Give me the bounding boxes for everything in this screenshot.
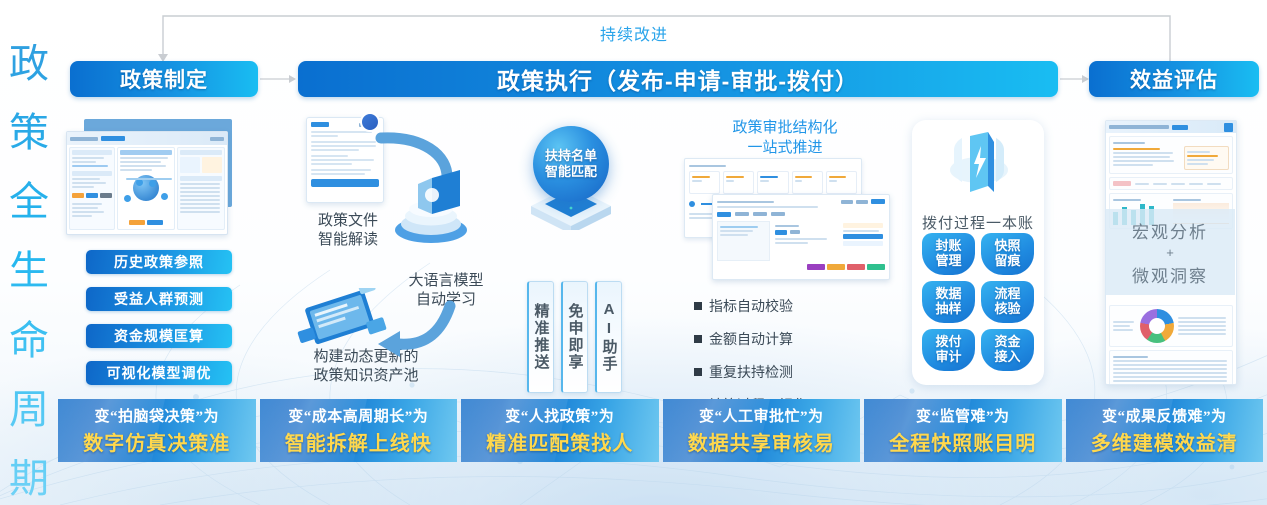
screenshot-center-panel xyxy=(117,147,175,230)
vtitle-char: 期 xyxy=(9,459,49,499)
outcome-banner-policy-matching: 变“人找政策”为 精准匹配策找人 xyxy=(461,399,659,462)
banner-to-label: 精准匹配策找人 xyxy=(486,427,633,456)
knowledge-pool-illustration xyxy=(294,288,388,354)
vtitle-char: 命 xyxy=(9,321,49,361)
disbursement-shield-group: 封账 管理 快照 留痕 数据 抽样 流程 核验 拨付 审计 资金 接入 xyxy=(922,233,1034,371)
banner-to-label: 数字仿真决策准 xyxy=(83,427,230,456)
capability-button-model-tuning[interactable]: 可视化模型调优 xyxy=(86,361,232,385)
overlay-plus-sign: + xyxy=(1166,245,1174,260)
outcome-banner-cost-cycle: 变“成本高周期长”为 智能拆解上线快 xyxy=(260,399,458,462)
outcome-banner-manual-approval: 变“人工审批忙”为 数据共享审核易 xyxy=(663,399,861,462)
disbursement-ledger-title: 拨付过程一本账 xyxy=(912,212,1044,233)
banner-from-label: 变“拍脑袋决策”为 xyxy=(94,405,219,426)
bullet-label: 重复扶持检测 xyxy=(709,362,793,382)
banner-to-label: 数据共享审核易 xyxy=(688,427,835,456)
approval-structuring-title: 政策审批结构化 一站式推进 xyxy=(690,118,880,159)
support-list-sphere-badge: 扶持名单 智能匹配 xyxy=(533,126,609,202)
loop-label: 持续改进 xyxy=(600,21,668,45)
screenshot-left-panel xyxy=(69,147,115,230)
overlay-micro-insight: 微观洞察 xyxy=(1132,262,1208,287)
vtitle-char: 周 xyxy=(9,390,49,430)
vtitle-char: 策 xyxy=(9,113,49,153)
bullet-square-icon xyxy=(694,368,702,376)
banner-to-label: 智能拆解上线快 xyxy=(285,427,432,456)
list-item: 金额自动计算 xyxy=(694,329,894,349)
shield-badge-data-sampling[interactable]: 数据 抽样 xyxy=(922,281,975,323)
banner-from-label: 变“人工审批忙”为 xyxy=(699,405,824,426)
bullet-label: 金额自动计算 xyxy=(709,329,793,349)
outcome-banner-result-feedback: 变“成果反馈难”为 多维建模效益清 xyxy=(1066,399,1264,462)
shield-badge-process-verification[interactable]: 流程 核验 xyxy=(981,281,1034,323)
lightning-crystal-icon xyxy=(948,130,1010,208)
banner-from-label: 变“监管难”为 xyxy=(916,405,1010,426)
banner-to-label: 全程快照账目明 xyxy=(889,427,1036,456)
vtitle-char: 全 xyxy=(9,182,49,222)
bullet-square-icon xyxy=(694,302,702,310)
support-list-matching-illustration: 扶持名单 智能匹配 xyxy=(515,126,627,226)
shield-badge-disbursement-audit[interactable]: 拨付 审计 xyxy=(922,329,975,371)
benefit-evaluation-overlay: 宏观分析 + 微观洞察 xyxy=(1105,209,1235,295)
screenshot-titlebar xyxy=(1106,121,1236,133)
donut-chart xyxy=(1140,309,1174,343)
capability-button-beneficiary-forecast[interactable]: 受益人群预测 xyxy=(86,287,232,311)
list-item: 指标自动校验 xyxy=(694,296,894,316)
vtitle-char: 政 xyxy=(9,44,49,84)
outcome-banner-decision: 变“拍脑袋决策”为 数字仿真决策准 xyxy=(58,399,256,462)
banner-from-label: 变“成果反馈难”为 xyxy=(1102,405,1227,426)
ai-engine-illustration xyxy=(388,168,474,246)
capability-button-fund-scale-estimate[interactable]: 资金规模匡算 xyxy=(86,324,232,348)
sphere-line-2: 智能匹配 xyxy=(545,164,597,180)
screenshot-titlebar xyxy=(67,132,227,145)
policy-making-screenshot xyxy=(66,131,228,235)
shield-badge-fund-access[interactable]: 资金 接入 xyxy=(981,329,1034,371)
screenshot-right-panel xyxy=(177,147,225,230)
outcome-banner-strip: 变“拍脑袋决策”为 数字仿真决策准 变“成本高周期长”为 智能拆解上线快 变“人… xyxy=(58,399,1263,462)
caption-policy-document-parsing: 政策文件 智能解读 xyxy=(300,212,396,250)
approval-detail-screenshot xyxy=(712,194,890,280)
shield-badge-snapshot-trace[interactable]: 快照 留痕 xyxy=(981,233,1034,275)
bullet-label: 指标自动校验 xyxy=(709,296,793,316)
shield-badge-closing-management[interactable]: 封账 管理 xyxy=(922,233,975,275)
phase-header-policy-making[interactable]: 政策制定 xyxy=(70,61,258,97)
vertical-chip-no-application[interactable]: 免申即享 xyxy=(561,281,588,393)
banner-from-label: 变“人找政策”为 xyxy=(505,405,614,426)
phase-header-policy-execution[interactable]: 政策执行（发布-申请-审批-拨付） xyxy=(298,61,1058,97)
vertical-chip-ai-assistant[interactable]: AI助手 xyxy=(595,281,622,393)
bullet-square-icon xyxy=(694,335,702,343)
vertical-page-title: 政 策 全 生 命 周 期 xyxy=(2,44,56,499)
vtitle-char: 生 xyxy=(9,251,49,291)
sphere-line-1: 扶持名单 xyxy=(545,148,597,164)
vertical-chip-precise-push[interactable]: 精准推送 xyxy=(527,281,554,393)
list-item: 重复扶持检测 xyxy=(694,362,894,382)
banner-to-label: 多维建模效益清 xyxy=(1091,427,1238,456)
banner-from-label: 变“成本高周期长”为 xyxy=(288,405,428,426)
capability-button-historical-policy[interactable]: 历史政策参照 xyxy=(86,250,232,274)
phase-header-benefit-evaluation[interactable]: 效益评估 xyxy=(1089,61,1259,97)
outcome-banner-supervision: 变“监管难”为 全程快照账目明 xyxy=(864,399,1062,462)
overlay-macro-analysis: 宏观分析 xyxy=(1132,218,1208,243)
